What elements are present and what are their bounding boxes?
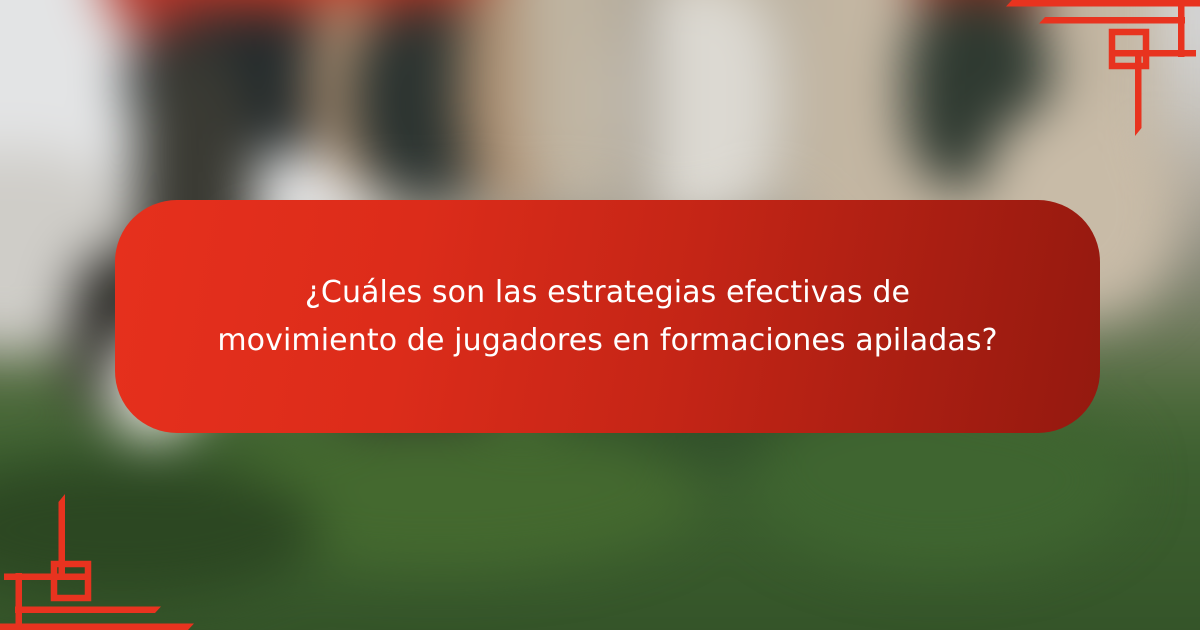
- question-text: ¿Cuáles son las estrategias efectivas de…: [143, 269, 1073, 364]
- question-plate: ¿Cuáles son las estrategias efectivas de…: [115, 200, 1100, 433]
- corner-bracket-icon: [0, 490, 210, 630]
- social-card: ¿Cuáles son las estrategias efectivas de…: [0, 0, 1200, 630]
- blob-fence-post-two: [780, 0, 802, 220]
- corner-bracket-icon: [990, 0, 1200, 140]
- corner-ornament-top-right: [990, 0, 1200, 140]
- corner-ornament-bottom-left: [0, 490, 210, 630]
